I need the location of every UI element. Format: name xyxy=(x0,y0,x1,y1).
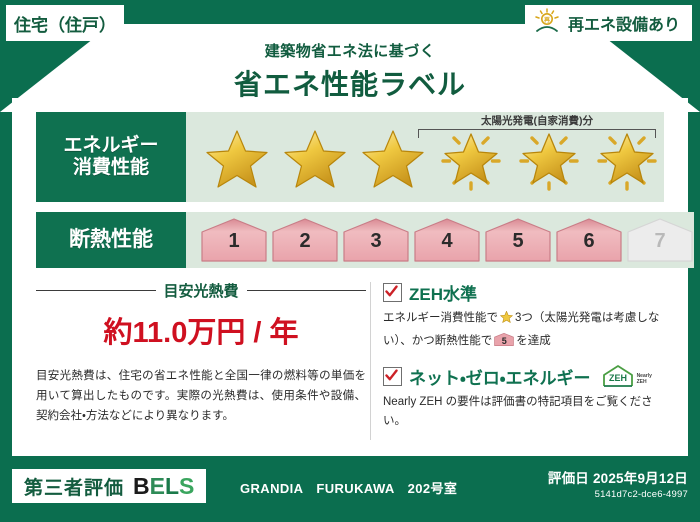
building-name: GRANDIA FURUKAWA 202号室 xyxy=(240,478,457,497)
grade-badge-value: 3 xyxy=(342,230,410,253)
zeh-house-icon: ZEH xyxy=(601,364,635,388)
grade-badge: 2 xyxy=(271,217,339,263)
header-title-block: 建築物省エネ法に基づく 省エネ性能ラベル xyxy=(0,40,700,103)
evaluation-date: 評価日 2025年9月12日 xyxy=(548,467,688,487)
star-filled xyxy=(356,121,430,193)
bels-letter-b: B xyxy=(133,473,150,499)
star-solar-sparkle xyxy=(512,121,586,193)
insulation-grade-scale: 1 2 3 xyxy=(186,217,694,263)
grade-badge-value: 5 xyxy=(484,230,552,253)
evaluation-info: 評価日 2025年9月12日 5141d7c2-dce6-4997 xyxy=(548,467,688,500)
evaluation-id: 5141d7c2-dce6-4997 xyxy=(548,489,688,500)
grade-inline-value: 5 xyxy=(494,334,514,349)
zeh-logo-sub: Nearly ZEH xyxy=(637,374,652,388)
net-zero-energy-checkbox[interactable] xyxy=(383,367,402,386)
heading-rule-right xyxy=(247,290,367,291)
utility-cost-heading-label: 目安光熱費 xyxy=(164,280,239,301)
star-inline-icon xyxy=(499,309,514,332)
star-filled xyxy=(200,121,274,193)
grade-badge: 5 xyxy=(484,217,552,263)
zeh-standard-title: ZEH水準 xyxy=(409,280,477,305)
zeh-criteria-block: ZEH水準 エネルギー消費性能で3つ（太陽光発電は考慮しない）、かつ断熱性能で5… xyxy=(383,280,668,442)
insulation-performance-label: 断熱性能 xyxy=(36,212,186,268)
zeh-standard-item: ZEH水準 エネルギー消費性能で3つ（太陽光発電は考慮しない）、かつ断熱性能で5… xyxy=(383,280,668,352)
grade-badge-value: 4 xyxy=(413,230,481,253)
check-icon xyxy=(385,369,398,382)
energy-performance-stars-area: 太陽光発電(自家消費)分 xyxy=(186,112,664,202)
utility-cost-note: 目安光熱費は、住宅の省エネ性能と全国一律の燃料等の単価を用いて算出したものです。… xyxy=(36,367,366,426)
grade-badge-value: 1 xyxy=(200,230,268,253)
grade-badge-value: 6 xyxy=(555,230,623,253)
star-solar-sparkle xyxy=(434,121,508,193)
category-tag-label: 住宅（住戸） xyxy=(14,11,116,36)
svg-text:再: 再 xyxy=(544,16,550,24)
renewable-energy-badge: 再 再エネ設備あり xyxy=(525,5,692,41)
bels-letter-e: E xyxy=(150,473,165,499)
lower-details-section: 目安光熱費 約11.0万円 / 年 目安光熱費は、住宅の省エネ性能と全国一律の燃… xyxy=(36,280,668,442)
star-filled xyxy=(278,121,352,193)
insulation-performance-row: 断熱性能 1 xyxy=(36,212,664,268)
net-zero-energy-item: ネット・ゼロ・エネルギー ZEH Nearly ZEH xyxy=(383,364,668,433)
energy-performance-label: エネルギー 消費性能 xyxy=(36,112,186,202)
evaluation-date-value: 2025年9月12日 xyxy=(593,471,688,486)
grade-badge: 3 xyxy=(342,217,410,263)
grade-inline-badge: 5 xyxy=(494,332,514,347)
bels-certification-badge: 第三者評価 BELS xyxy=(12,469,206,503)
grade-badge: 4 xyxy=(413,217,481,263)
zeh-standard-header: ZEH水準 xyxy=(383,280,668,305)
net-zero-energy-header: ネット・ゼロ・エネルギー ZEH Nearly ZEH xyxy=(383,364,668,389)
grade-badge-value: 7 xyxy=(626,230,694,253)
zeh-logo-sub-line2: ZEH xyxy=(637,379,647,385)
grade-badge-value: 2 xyxy=(271,230,339,253)
energy-label-line1: エネルギー xyxy=(63,135,158,157)
net-zero-energy-title: ネット・ゼロ・エネルギー xyxy=(409,364,591,389)
main-content-card: エネルギー 消費性能 太陽光発電(自家消費)分 xyxy=(12,98,688,456)
bels-logo: BELS xyxy=(133,473,194,500)
bels-letter-s: S xyxy=(179,473,194,499)
utility-cost-value: 約11.0万円 / 年 xyxy=(36,309,366,351)
energy-performance-row: エネルギー 消費性能 太陽光発電(自家消費)分 xyxy=(36,112,664,202)
energy-label-line2: 消費性能 xyxy=(73,157,149,179)
zeh-body-part3: を達成 xyxy=(516,335,551,347)
evaluation-date-label: 評価日 xyxy=(548,471,589,486)
zeh-body-part1: エネルギー消費性能で xyxy=(383,312,498,324)
footer-bar: 第三者評価 BELS GRANDIA FURUKAWA 202号室 評価日 20… xyxy=(0,460,700,522)
sun-solar-icon: 再 xyxy=(533,8,561,39)
utility-cost-heading: 目安光熱費 xyxy=(36,280,366,301)
zeh-standard-body: エネルギー消費性能で3つ（太陽光発電は考慮しない）、かつ断熱性能で5を達成 xyxy=(383,309,668,352)
svg-text:ZEH: ZEH xyxy=(609,373,627,383)
grade-badge: 1 xyxy=(200,217,268,263)
zeh-standard-checkbox[interactable] xyxy=(383,283,402,302)
net-zero-energy-body: Nearly ZEH の要件は評価書の特記項目をご覧ください。 xyxy=(383,393,668,433)
renewable-badge-label: 再エネ設備あり xyxy=(568,11,680,35)
star-solar-sparkle xyxy=(590,121,664,193)
zeh-logo: ZEH Nearly ZEH xyxy=(601,364,652,388)
grade-badge-inactive: 7 xyxy=(626,217,694,263)
utility-cost-block: 目安光熱費 約11.0万円 / 年 目安光熱費は、住宅の省エネ性能と全国一律の燃… xyxy=(36,280,366,442)
bels-jp-label: 第三者評価 xyxy=(24,473,124,500)
energy-star-rating xyxy=(186,121,664,193)
page-title: 省エネ性能ラベル xyxy=(0,63,700,103)
heading-rule-left xyxy=(36,290,156,291)
check-icon xyxy=(385,285,398,298)
header-subtitle: 建築物省エネ法に基づく xyxy=(0,40,700,61)
energy-performance-label: 住宅（住戸） 再 再エネ設備あり 建築物省エネ法に基づく 省エネ性能ラベル xyxy=(0,0,700,522)
insulation-grade-area: 1 2 3 xyxy=(186,212,694,268)
insulation-label-text: 断熱性能 xyxy=(69,228,153,253)
bels-letter-l: L xyxy=(165,473,179,499)
column-divider xyxy=(370,282,371,440)
category-tag: 住宅（住戸） xyxy=(6,5,124,41)
grade-badge: 6 xyxy=(555,217,623,263)
